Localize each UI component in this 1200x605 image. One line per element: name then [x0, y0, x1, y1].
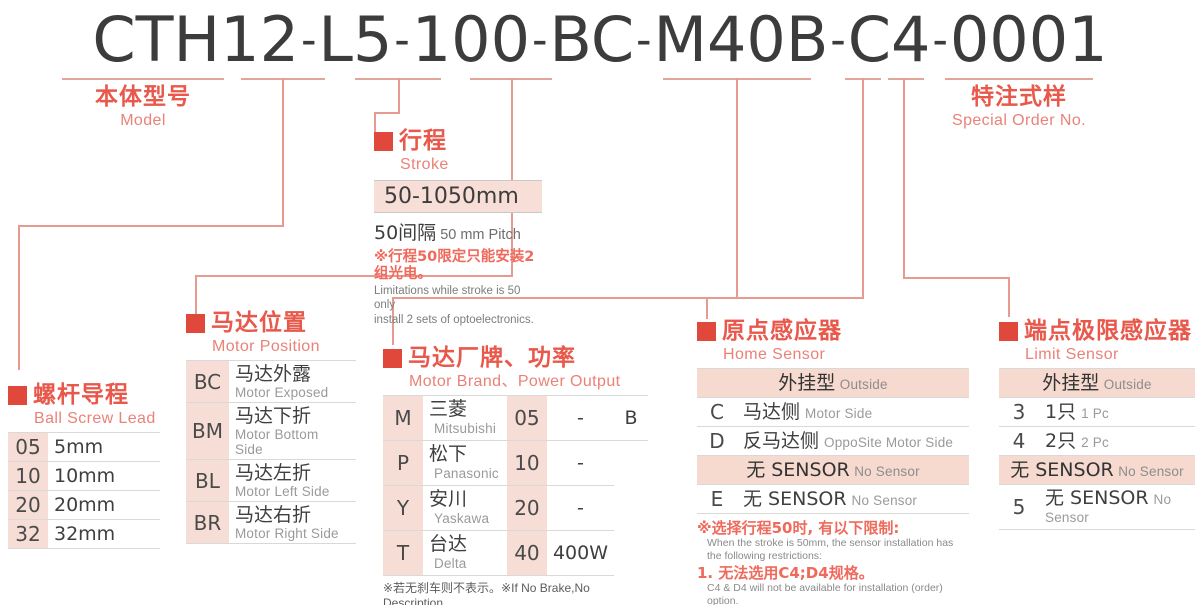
power-code: 10 — [507, 441, 547, 486]
connector-lead-drop — [282, 78, 284, 226]
brand-en: Delta — [434, 556, 467, 571]
limit-sensor-table: 外挂型 Outside 3 1只1 Pc 4 2只2 Pc 无 SENSOR N… — [999, 368, 1195, 530]
table-row: P 松下Panasonic 10 - — [383, 441, 648, 486]
motor-position-en: Motor Bottom Side — [235, 427, 350, 457]
table-header-row: 外挂型 Outside — [697, 369, 969, 398]
lead-code: 05 — [8, 433, 48, 462]
section-ball-screw-lead-title-cn: 螺杆导程 — [33, 382, 129, 408]
table-row: Y 安川Yaskawa 20 - — [383, 486, 648, 531]
brand-code: P — [383, 441, 423, 486]
brand-en: Panasonic — [434, 466, 499, 481]
brake-code-empty — [614, 486, 648, 531]
connector-stroke-drop — [398, 78, 400, 113]
section-stroke-title-cn: 行程 — [399, 128, 447, 154]
limit-sensor-code: 4 — [999, 427, 1039, 456]
connector-motorpos-down — [195, 275, 197, 315]
home-sensor-code: C — [697, 398, 737, 427]
motor-position-cn: 马达右折 — [235, 504, 350, 526]
limit-sensor-cn: 无 SENSOR — [1045, 487, 1149, 509]
stroke-note-cn: ※行程50限定只能安装2组光电。 — [374, 249, 542, 283]
callout-special-order: 特注式样 Special Order No. — [945, 84, 1093, 130]
connector-home-down — [706, 297, 708, 319]
section-ball-screw-lead: 螺杆导程 Ball Screw Lead 05 5mm 10 10mm 20 2… — [8, 382, 160, 549]
brake-code: B — [624, 407, 637, 429]
motor-brand-note-1: ※若无刹车则不表示。※If No Brake,No Description. — [383, 581, 648, 605]
table-row: 5 无 SENSORNo Sensor — [999, 485, 1195, 530]
section-limit-sensor-head: 端点极限感应器 — [999, 318, 1195, 344]
home-sensor-restriction-title-en-1: When the stroke is 50mm, the sensor inst… — [707, 537, 969, 550]
power-value: - — [577, 497, 584, 519]
section-motor-position-head: 马达位置 — [186, 310, 356, 336]
code-token-model: CTH12 — [92, 3, 299, 76]
limit-sensor-cn: 2只 — [1045, 430, 1076, 452]
limit-sensor-code: 5 — [999, 485, 1039, 530]
section-limit-sensor-title-en: Limit Sensor — [1025, 345, 1195, 364]
power-value: 400W — [553, 542, 608, 564]
table-header-row: 外挂型 Outside — [999, 369, 1195, 398]
stroke-pitch-cn: 50间隔 — [374, 222, 436, 244]
square-marker-icon — [186, 314, 205, 333]
motor-position-code: BR — [186, 502, 229, 544]
home-sensor-restriction-title: ※选择行程50时, 有以下限制: — [697, 519, 969, 537]
section-stroke: 行程 Stroke 50-1050mm 50间隔50 mm Pitch ※行程5… — [374, 128, 542, 327]
section-motor-brand-title-cn: 马达厂牌、功率 — [408, 345, 576, 371]
connector-limit-down — [1008, 277, 1010, 317]
section-home-sensor: 原点感应器 Home Sensor 外挂型 Outside C 马达侧Motor… — [697, 318, 969, 605]
connector-home-run — [706, 297, 864, 299]
limit-sensor-nosensor-hdr-en: No Sensor — [1118, 464, 1184, 479]
power-value: - — [577, 407, 584, 429]
motor-position-table: BC 马达外露 Motor Exposed BM 马达下折 Motor Bott… — [186, 360, 356, 544]
code-token-stroke: 100 — [412, 3, 530, 76]
table-row: 4 2只2 Pc — [999, 427, 1195, 456]
motor-position-code: BC — [186, 361, 229, 403]
limit-sensor-en: 2 Pc — [1081, 435, 1109, 450]
table-row: T 台达Delta 40 400W — [383, 531, 648, 576]
lead-value: 5mm — [54, 436, 103, 458]
section-home-sensor-title-en: Home Sensor — [723, 345, 969, 364]
motor-position-code: BM — [186, 403, 229, 460]
limit-sensor-cn: 1只 — [1045, 401, 1076, 423]
table-row: BL 马达左折 Motor Left Side — [186, 460, 356, 502]
product-code: CTH12-L5-100-BC-M40B-C4-0001 — [0, 8, 1200, 77]
code-token-special-order: 0001 — [950, 3, 1108, 76]
connector-limit-run — [903, 277, 1009, 279]
home-sensor-cn: 无 SENSOR — [743, 488, 847, 510]
table-row: C 马达侧Motor Side — [697, 398, 969, 427]
connector-stroke-run — [374, 112, 400, 114]
brake-code-empty — [614, 441, 648, 486]
section-limit-sensor: 端点极限感应器 Limit Sensor 外挂型 Outside 3 1只1 P… — [999, 318, 1195, 530]
underline-special-order — [945, 78, 1093, 80]
motor-brand-note-1-cn: ※若无刹车则不表示。 — [383, 581, 501, 595]
home-sensor-cn: 马达侧 — [743, 401, 800, 423]
code-separator: - — [392, 13, 411, 65]
section-motor-brand: 马达厂牌、功率 Motor Brand、Power Output M 三菱Mit… — [383, 345, 648, 605]
square-marker-icon — [374, 132, 393, 151]
diagram-root: CTH12-L5-100-BC-M40B-C4-0001 本体型号 Model … — [0, 0, 1200, 605]
connector-lead-down — [18, 225, 20, 370]
home-sensor-restriction-title-en-2: the following restrictions: — [707, 550, 969, 563]
power-code: 05 — [507, 396, 547, 441]
section-ball-screw-lead-head: 螺杆导程 — [8, 382, 160, 408]
table-row: E 无 SENSORNo Sensor — [697, 485, 969, 514]
connector-brand-drop — [736, 78, 738, 298]
code-separator: - — [530, 13, 549, 65]
table-row: 32 32mm — [8, 520, 160, 549]
square-marker-icon — [383, 349, 402, 368]
home-sensor-en: OppoSite Motor Side — [824, 435, 953, 450]
brand-code: M — [383, 396, 423, 441]
code-token-motor-brand: M40B — [653, 3, 828, 76]
home-sensor-code: E — [697, 485, 737, 514]
table-header-row: 无 SENSOR No Sensor — [999, 456, 1195, 485]
motor-position-cn: 马达下折 — [235, 405, 350, 427]
table-row: BC 马达外露 Motor Exposed — [186, 361, 356, 403]
stroke-pitch-en: 50 mm Pitch — [440, 227, 521, 243]
square-marker-icon — [8, 386, 27, 405]
brand-cn: 台达 — [429, 533, 467, 555]
motor-position-cn: 马达左折 — [235, 462, 350, 484]
code-separator: - — [299, 13, 318, 65]
section-motor-brand-head: 马达厂牌、功率 — [383, 345, 648, 371]
table-row: BR 马达右折 Motor Right Side — [186, 502, 356, 544]
home-sensor-nosensor-hdr-cn: 无 SENSOR — [746, 459, 850, 481]
code-token-motor-position: BC — [549, 3, 634, 76]
home-sensor-en: Motor Side — [805, 406, 872, 421]
section-motor-position-title-en: Motor Position — [212, 337, 356, 356]
motor-brand-table: M 三菱Mitsubishi 05 - B P 松下Panasonic 10 -… — [383, 395, 648, 576]
lead-code: 10 — [8, 462, 48, 491]
section-ball-screw-lead-title-en: Ball Screw Lead — [34, 409, 160, 428]
code-token-lead: L5 — [318, 3, 392, 76]
table-row: D 反马达侧OppoSite Motor Side — [697, 427, 969, 456]
square-marker-icon — [697, 322, 716, 341]
motor-position-en: Motor Right Side — [235, 526, 350, 541]
code-separator: - — [828, 13, 847, 65]
lead-code: 32 — [8, 520, 48, 549]
section-home-sensor-title-cn: 原点感应器 — [722, 318, 842, 344]
connector-home-drop — [862, 78, 864, 298]
section-motor-position-title-cn: 马达位置 — [211, 310, 307, 336]
limit-sensor-en: 1 Pc — [1081, 406, 1109, 421]
brand-en: Mitsubishi — [434, 421, 496, 436]
motor-position-en: Motor Left Side — [235, 484, 350, 499]
home-sensor-restriction-item-1: 1. 无法选用C4;D4规格。 — [697, 564, 969, 582]
limit-sensor-outside-hdr-cn: 外挂型 — [1042, 372, 1099, 394]
brake-code-empty — [614, 531, 648, 576]
limit-sensor-code: 3 — [999, 398, 1039, 427]
table-row: M 三菱Mitsubishi 05 - B — [383, 396, 648, 441]
home-sensor-outside-hdr-cn: 外挂型 — [778, 372, 835, 394]
table-row: BM 马达下折 Motor Bottom Side — [186, 403, 356, 460]
brand-code: Y — [383, 486, 423, 531]
connector-limit-drop — [903, 78, 905, 278]
lead-value: 32mm — [54, 523, 115, 545]
callout-model-en: Model — [62, 111, 224, 130]
code-separator: - — [634, 13, 653, 65]
brand-cn: 松下 — [429, 443, 467, 465]
section-home-sensor-head: 原点感应器 — [697, 318, 969, 344]
motor-position-en: Motor Exposed — [235, 385, 350, 400]
ball-screw-lead-table: 05 5mm 10 10mm 20 20mm 32 32mm — [8, 432, 160, 549]
home-sensor-code: D — [697, 427, 737, 456]
callout-special-order-en: Special Order No. — [945, 111, 1093, 130]
section-motor-position: 马达位置 Motor Position BC 马达外露 Motor Expose… — [186, 310, 356, 544]
brand-code: T — [383, 531, 423, 576]
motor-position-cn: 马达外露 — [235, 363, 350, 385]
table-row: 3 1只1 Pc — [999, 398, 1195, 427]
callout-model: 本体型号 Model — [62, 84, 224, 130]
home-sensor-en: No Sensor — [852, 493, 918, 508]
brand-en: Yaskawa — [434, 511, 489, 526]
home-sensor-cn: 反马达侧 — [743, 430, 819, 452]
stroke-note-en-1: Limitations while stroke is 50 only — [374, 284, 542, 312]
home-sensor-outside-hdr-en: Outside — [840, 377, 888, 392]
lead-value: 10mm — [54, 465, 115, 487]
stroke-pitch: 50间隔50 mm Pitch — [374, 218, 542, 245]
connector-lead-run — [18, 225, 284, 227]
square-marker-icon — [999, 322, 1018, 341]
underline-limit-sensor — [888, 78, 924, 80]
section-stroke-title-en: Stroke — [400, 155, 542, 174]
power-code: 20 — [507, 486, 547, 531]
power-code: 40 — [507, 531, 547, 576]
power-value: - — [577, 452, 584, 474]
callout-special-order-cn: 特注式样 — [945, 84, 1093, 110]
motor-position-code: BL — [186, 460, 229, 502]
home-sensor-nosensor-hdr-en: No Sensor — [854, 464, 920, 479]
section-stroke-head: 行程 — [374, 128, 542, 154]
limit-sensor-outside-hdr-en: Outside — [1104, 377, 1152, 392]
home-sensor-restriction-item-1-en: C4 & D4 will not be available for instal… — [707, 582, 969, 605]
brand-cn: 三菱 — [429, 398, 467, 420]
table-header-row: 无 SENSOR No Sensor — [697, 456, 969, 485]
section-motor-brand-title-en: Motor Brand、Power Output — [409, 372, 648, 391]
lead-code: 20 — [8, 491, 48, 520]
code-separator: - — [930, 13, 949, 65]
callout-model-cn: 本体型号 — [62, 84, 224, 110]
code-token-sensors: C4 — [848, 3, 931, 76]
table-row: 20 20mm — [8, 491, 160, 520]
table-row: 10 10mm — [8, 462, 160, 491]
home-sensor-table: 外挂型 Outside C 马达侧Motor Side D 反马达侧OppoSi… — [697, 368, 969, 514]
brand-cn: 安川 — [429, 488, 467, 510]
limit-sensor-nosensor-hdr-cn: 无 SENSOR — [1010, 459, 1114, 481]
stroke-note-en-2: install 2 sets of optoelectronics. — [374, 313, 542, 327]
stroke-range-value: 50-1050mm — [374, 180, 542, 213]
underline-model — [62, 78, 224, 80]
table-row: 05 5mm — [8, 433, 160, 462]
lead-value: 20mm — [54, 494, 115, 516]
section-limit-sensor-title-cn: 端点极限感应器 — [1024, 318, 1192, 344]
